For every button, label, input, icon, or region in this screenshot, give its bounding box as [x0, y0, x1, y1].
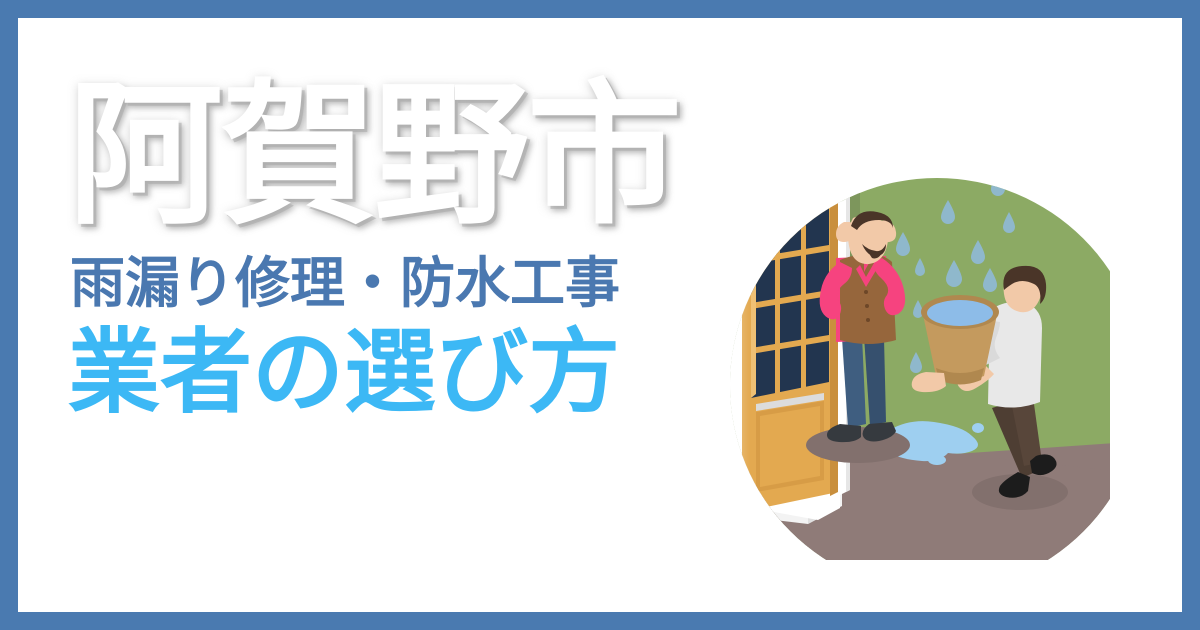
vest-button: [864, 290, 868, 294]
door-header: [736, 152, 842, 202]
puddle-splash-drop: [972, 423, 984, 433]
bucket-water: [927, 300, 993, 326]
illustration-scene: [708, 148, 1110, 560]
roof-leak-illustration: [690, 140, 1110, 560]
banner-frame: 阿賀野市 雨漏り修理・防水工事 業者の選び方: [0, 0, 1200, 630]
banner-canvas: 阿賀野市 雨漏り修理・防水工事 業者の選び方: [18, 18, 1182, 612]
headline: 業者の選び方: [68, 325, 788, 422]
text-block: 阿賀野市 雨漏り修理・防水工事 業者の選び方: [68, 78, 788, 421]
door-slab-top-edge: [742, 186, 838, 212]
door-header-shade: [736, 180, 842, 206]
vest-button: [865, 304, 869, 308]
subtitle: 雨漏り修理・防水工事: [70, 255, 788, 313]
puddle-splash-small: [928, 455, 946, 465]
page-title: 阿賀野市: [68, 78, 788, 233]
left-fade-overlay: [690, 140, 750, 560]
drop-icon: [991, 172, 1005, 196]
vest-button: [866, 318, 870, 322]
